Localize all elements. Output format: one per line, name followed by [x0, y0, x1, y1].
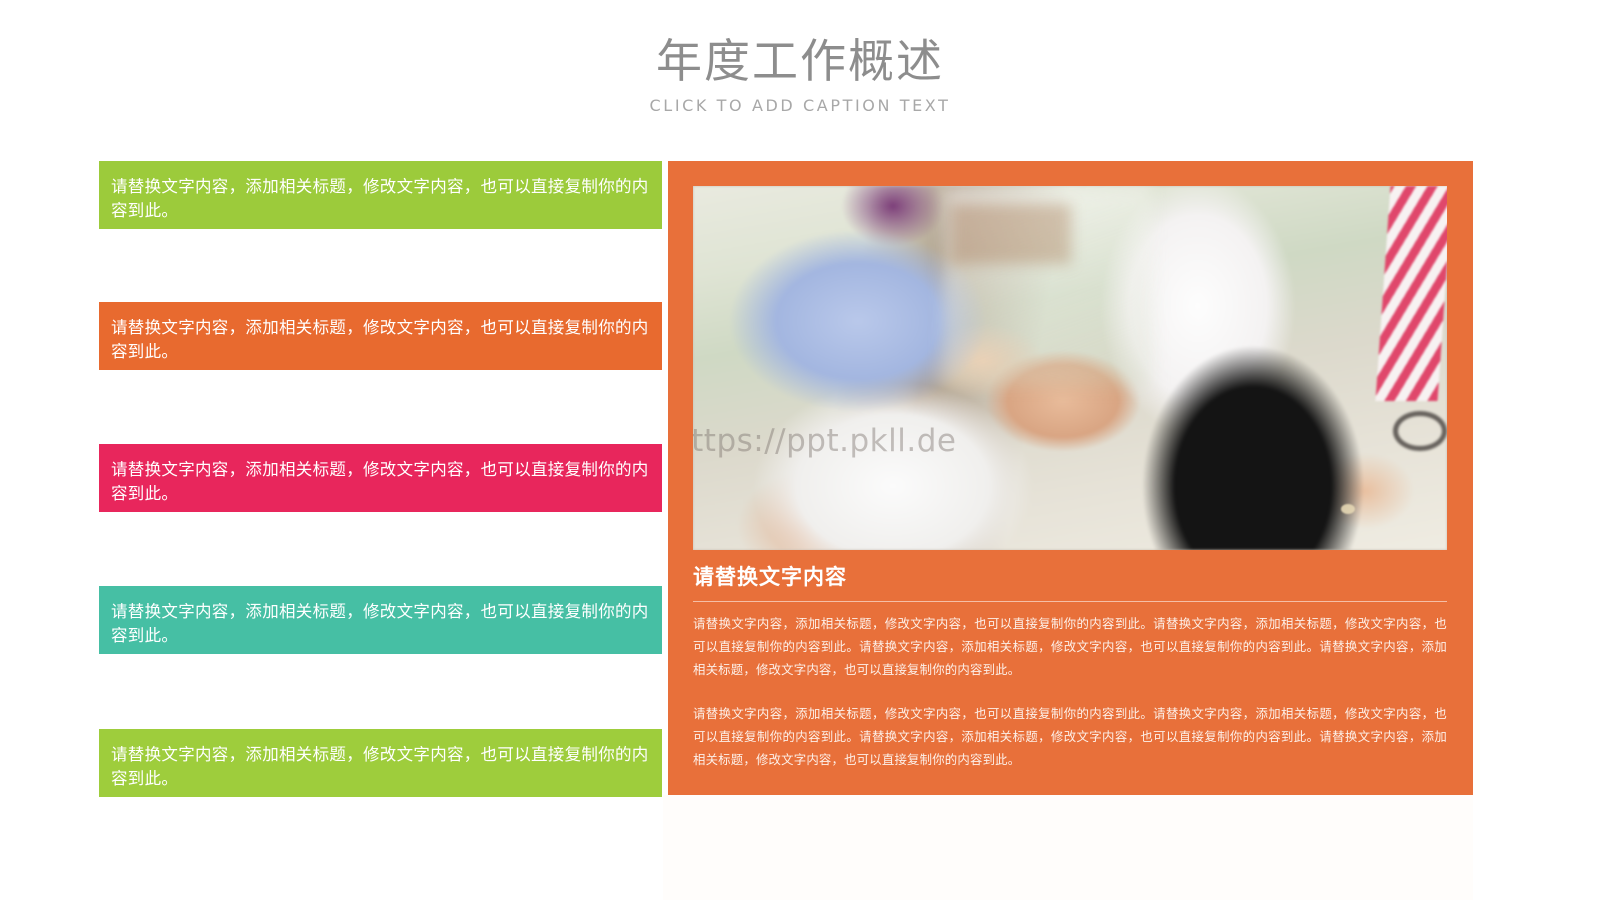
slide-canvas: 年度工作概述 CLICK TO ADD CAPTION TEXT 请替换文字内容… [0, 0, 1600, 900]
panel-text-block: 请替换文字内容 请替换文字内容，添加相关标题，修改文字内容，也可以直接复制你的内… [693, 565, 1447, 771]
panel-divider [693, 601, 1447, 602]
bullet-bar-3-label: 请替换文字内容，添加相关标题，修改文字内容，也可以直接复制你的内容到此。 [111, 458, 650, 506]
bullet-bar-4[interactable]: 请替换文字内容，添加相关标题，修改文字内容，也可以直接复制你的内容到此。 [99, 586, 662, 654]
panel-paragraph-1: 请替换文字内容，添加相关标题，修改文字内容，也可以直接复制你的内容到此。请替换文… [693, 613, 1447, 681]
bullet-bar-2[interactable]: 请替换文字内容，添加相关标题，修改文字内容，也可以直接复制你的内容到此。 [99, 302, 662, 370]
bullet-bar-5-label: 请替换文字内容，添加相关标题，修改文字内容，也可以直接复制你的内容到此。 [111, 743, 650, 791]
panel-heading: 请替换文字内容 [693, 565, 1447, 590]
page-subtitle: CLICK TO ADD CAPTION TEXT [0, 96, 1600, 115]
handshake-photo: https://ppt.pkll.de [693, 186, 1447, 550]
photo-ring [1341, 504, 1355, 514]
photo-wristwatch [1393, 411, 1447, 451]
panel-lower-seam [663, 795, 1473, 900]
bullet-bar-2-label: 请替换文字内容，添加相关标题，修改文字内容，也可以直接复制你的内容到此。 [111, 316, 650, 364]
photo-background-frame [951, 204, 1071, 264]
bullet-bar-1-label: 请替换文字内容，添加相关标题，修改文字内容，也可以直接复制你的内容到此。 [111, 175, 650, 223]
slide-header: 年度工作概述 CLICK TO ADD CAPTION TEXT [0, 34, 1600, 115]
bullet-bar-3[interactable]: 请替换文字内容，添加相关标题，修改文字内容，也可以直接复制你的内容到此。 [99, 444, 662, 512]
bullet-bar-1[interactable]: 请替换文字内容，添加相关标题，修改文字内容，也可以直接复制你的内容到此。 [99, 161, 662, 229]
panel-paragraph-2: 请替换文字内容，添加相关标题，修改文字内容，也可以直接复制你的内容到此。请替换文… [693, 703, 1447, 771]
bullet-bar-5[interactable]: 请替换文字内容，添加相关标题，修改文字内容，也可以直接复制你的内容到此。 [99, 729, 662, 797]
page-title: 年度工作概述 [0, 34, 1600, 88]
bullet-bar-4-label: 请替换文字内容，添加相关标题，修改文字内容，也可以直接复制你的内容到此。 [111, 600, 650, 648]
content-panel: https://ppt.pkll.de 请替换文字内容 请替换文字内容，添加相关… [668, 161, 1473, 795]
bullet-bar-list: 请替换文字内容，添加相关标题，修改文字内容，也可以直接复制你的内容到此。 请替换… [99, 161, 662, 797]
